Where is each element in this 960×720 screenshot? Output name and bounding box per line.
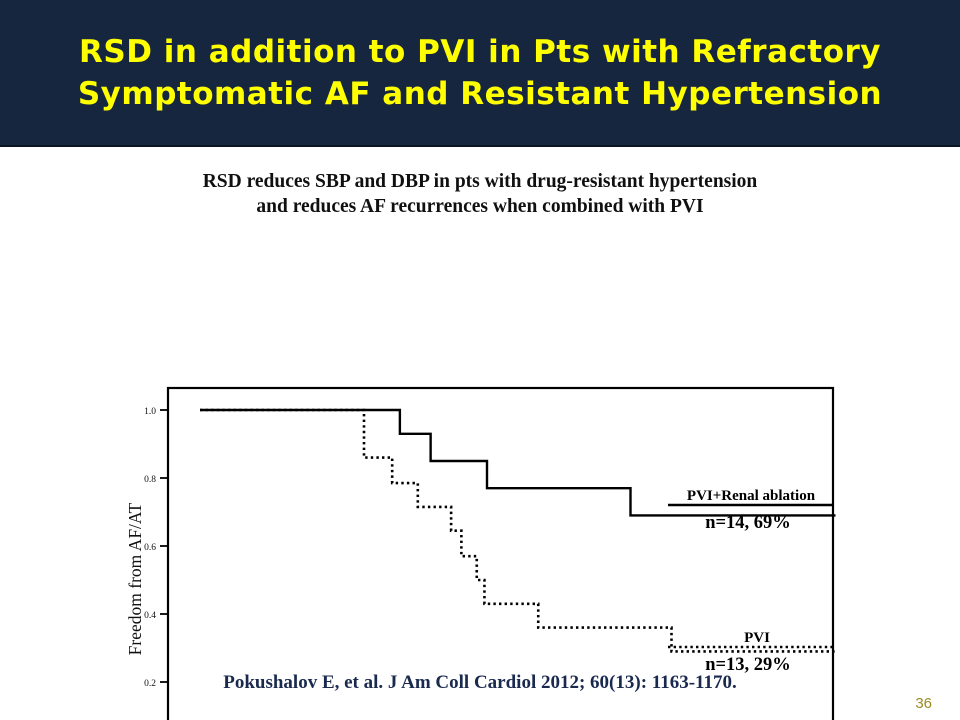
slide-title-banner: RSD in addition to PVI in Pts with Refra… bbox=[0, 0, 960, 147]
y-axis-title: Freedom from AF/AT bbox=[125, 502, 145, 655]
legend-n-pvi-renal-ablation: n=14, 69% bbox=[705, 513, 791, 533]
citation-authors: Pokushalov E, et al. J Am Coll Cardiol 2… bbox=[223, 672, 590, 693]
kaplan-meier-chart: 0.00.20.40.60.81.0 024681012 Freedom fro… bbox=[0, 147, 960, 720]
citation: Pokushalov E, et al. J Am Coll Cardiol 2… bbox=[0, 672, 960, 694]
chart-svg: 0.00.20.40.60.81.0 024681012 Freedom fro… bbox=[0, 147, 960, 720]
y-tick-label: 0.4 bbox=[144, 611, 156, 621]
legend-label-pvi: PVI bbox=[744, 630, 770, 646]
slide-title-line-2: Symptomatic AF and Resistant Hypertensio… bbox=[78, 73, 882, 115]
legend-label-pvi-renal-ablation: PVI+Renal ablation bbox=[687, 488, 816, 504]
y-tick-label: 0.6 bbox=[144, 543, 156, 553]
slide-body: RSD reduces SBP and DBP in pts with drug… bbox=[0, 147, 960, 720]
citation-volume: 60 bbox=[590, 672, 609, 693]
y-tick-label: 1.0 bbox=[144, 407, 156, 417]
y-tick-label: 0.8 bbox=[144, 475, 156, 485]
slide-title-line-1: RSD in addition to PVI in Pts with Refra… bbox=[79, 31, 881, 73]
page-number: 36 bbox=[915, 695, 932, 712]
citation-rest: (13): 1163-1170. bbox=[609, 672, 737, 693]
